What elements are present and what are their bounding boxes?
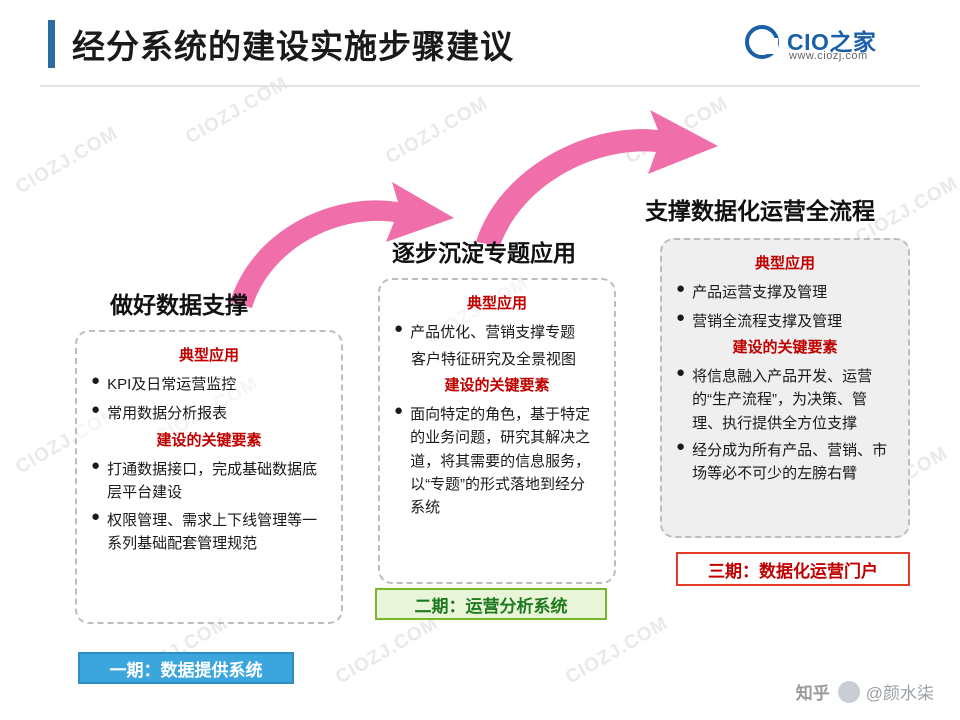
stage2-item-2: 客户特征研究及全景视图 (411, 348, 600, 371)
stage3-heading: 支撑数据化运营全流程 (645, 192, 875, 226)
stage3-item-3: 将信息融入产品开发、运营的“生产流程”，为决策、管理、执行提供全方位支撑 (692, 365, 894, 435)
bullet-icon: ● (394, 321, 403, 336)
stage2-heading: 逐步沉淀专题应用 (392, 234, 576, 268)
bullet-icon: ● (91, 402, 100, 417)
stage1-card: 典型应用 ● KPI及日常运营监控 ● 常用数据分析报表 建设的关键要素 ● 打… (75, 330, 343, 624)
watermark: CIOZJ.COM (332, 613, 442, 689)
stage3-phase-banner: 三期：数据化运营门户 (676, 552, 910, 586)
stage1-phase-label: 一期：数据提供系统 (110, 656, 263, 681)
bullet-icon: ● (676, 439, 685, 454)
stage1-item-2: 常用数据分析报表 (107, 402, 327, 425)
stage1-item-3: 打通数据接口，完成基础数据底层平台建设 (107, 458, 327, 505)
list-item: ● 面向特定的角色，基于特定的业务问题，研究其解决之道，将其需要的信息服务，以“… (394, 403, 600, 519)
stage1-item-4: 权限管理、需求上下线管理等一系列基础配套管理规范 (107, 509, 327, 556)
stage2-item-3: 面向特定的角色，基于特定的业务问题，研究其解决之道，将其需要的信息服务，以“专题… (410, 403, 600, 519)
stage3-card: 典型应用 ● 产品运营支撑及管理 ● 营销全流程支撑及管理 建设的关键要素 ● … (660, 238, 910, 538)
stage3-item-2: 营销全流程支撑及管理 (692, 310, 894, 333)
attribution: 知乎 @颜水柒 (796, 679, 934, 704)
logo-subtext: www.ciozj.com (789, 50, 868, 62)
stage1-subhead-typical: 典型应用 (91, 344, 327, 367)
list-item: ● 打通数据接口，完成基础数据底层平台建设 (91, 458, 327, 505)
list-item: ● 产品运营支撑及管理 (676, 281, 894, 304)
bullet-icon: ● (676, 281, 685, 296)
list-item: ● 将信息融入产品开发、运营的“生产流程”，为决策、管理、执行提供全方位支撑 (676, 365, 894, 435)
watermark: CIOZJ.COM (562, 613, 672, 689)
list-item: ● 产品优化、营销支撑专题 (394, 321, 600, 344)
page-header: 经分系统的建设实施步骤建议 CIO之家 www.ciozj.com (0, 0, 960, 88)
bullet-icon: ● (91, 458, 100, 473)
stage2-subhead-key: 建设的关键要素 (394, 374, 600, 397)
stage1-subhead-key: 建设的关键要素 (91, 429, 327, 452)
bullet-icon: ● (91, 509, 100, 524)
platform-label: 知乎 (796, 679, 830, 704)
bullet-icon: ● (676, 310, 685, 325)
header-divider (40, 85, 920, 87)
stage2-subhead-typical: 典型应用 (394, 292, 600, 315)
cio-logo: CIO之家 www.ciozj.com (745, 23, 930, 67)
stage2-phase-label: 二期：运营分析系统 (415, 592, 568, 617)
title-accent-bar (48, 20, 55, 68)
avatar (838, 681, 860, 703)
bullet-icon: ● (676, 365, 685, 380)
stage3-item-4: 经分成为所有产品、营销、市场等必不可少的左膀右臂 (692, 439, 894, 486)
curved-arrow-stage2-to-stage3 (470, 108, 730, 248)
bullet-icon: ● (394, 403, 403, 418)
stage3-subhead-typical: 典型应用 (676, 252, 894, 275)
page-title: 经分系统的建设实施步骤建议 (72, 20, 514, 68)
stage2-item-1: 产品优化、营销支撑专题 (410, 321, 600, 344)
stage3-subhead-key: 建设的关键要素 (676, 336, 894, 359)
list-item: ● 营销全流程支撑及管理 (676, 310, 894, 333)
stage2-card: 典型应用 ● 产品优化、营销支撑专题 客户特征研究及全景视图 建设的关键要素 ●… (378, 278, 616, 584)
cio-circle-logo-icon (745, 25, 779, 59)
bullet-icon: ● (91, 373, 100, 388)
stage2-phase-banner: 二期：运营分析系统 (375, 588, 607, 620)
list-item: ● 权限管理、需求上下线管理等一系列基础配套管理规范 (91, 509, 327, 556)
list-item: ● KPI及日常运营监控 (91, 373, 327, 396)
stage1-item-1: KPI及日常运营监控 (107, 373, 327, 396)
user-handle: @颜水柒 (866, 679, 934, 704)
list-item: ● 经分成为所有产品、营销、市场等必不可少的左膀右臂 (676, 439, 894, 486)
watermark: CIOZJ.COM (12, 123, 122, 199)
list-item: ● 常用数据分析报表 (91, 402, 327, 425)
stage3-item-1: 产品运营支撑及管理 (692, 281, 894, 304)
stage1-phase-banner: 一期：数据提供系统 (78, 652, 294, 684)
stage3-phase-label: 三期：数据化运营门户 (708, 557, 878, 582)
stage1-heading: 做好数据支撑 (110, 286, 248, 320)
